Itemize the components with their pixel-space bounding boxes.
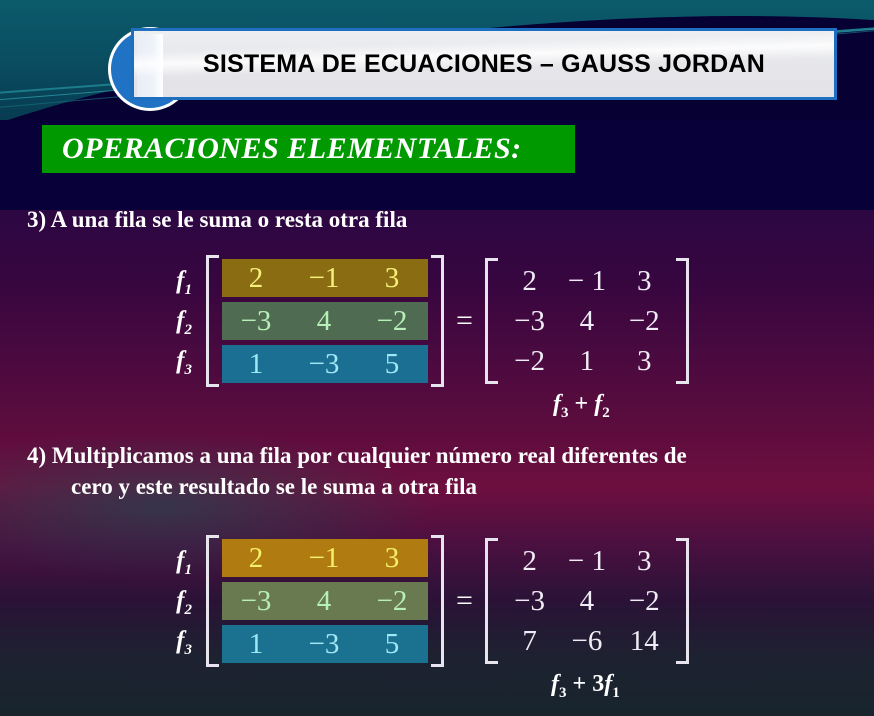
- slide-title-box: SISTEMA DE ECUACIONES – GAUSS JORDAN: [131, 28, 837, 100]
- matrix-row: 2 −1 3: [222, 259, 428, 297]
- matrix-row: −3 4 −2: [222, 302, 428, 340]
- matrix-row: −2 1 3: [501, 342, 673, 380]
- result-matrix-2: 2 − 1 3 −3 4 −2 7 −6 14: [485, 538, 689, 664]
- matrix-cell: −2: [358, 304, 426, 338]
- op1-operator: +: [575, 391, 589, 417]
- row-label-f1-letter: f: [176, 547, 184, 574]
- matrix-cell: 4: [558, 305, 615, 338]
- matrix-cell: 2: [501, 265, 558, 298]
- matrix-cell: 3: [616, 345, 673, 378]
- section-banner-label: OPERACIONES ELEMENTALES:: [42, 132, 522, 166]
- result-matrix-1: 2 − 1 3 −3 4 −2 −2 1 3: [485, 258, 689, 384]
- op2-target-index: 3: [559, 685, 567, 701]
- operation-caption-2: f3 + 3f1: [551, 671, 620, 702]
- matrix-row: −3 4 −2: [501, 582, 673, 620]
- bracket-left: [206, 535, 219, 667]
- equation-block-2: f1 f2 f3 2 −1 3 −3 4 −2 1 −3 5 =: [160, 535, 689, 667]
- row-label-f3-letter: f: [176, 347, 184, 374]
- matrix-cell: −2: [358, 584, 426, 618]
- matrix-cell: −2: [501, 345, 558, 378]
- row-label-f3-index: 3: [185, 642, 193, 658]
- row-label-f1-index: 1: [185, 282, 193, 298]
- row-label-f2: f2: [160, 301, 192, 341]
- matrix-cell: 1: [222, 627, 290, 661]
- row-label-f3-letter: f: [176, 627, 184, 654]
- bracket-right: [431, 535, 444, 667]
- matrix-cell: 2: [222, 541, 290, 575]
- matrix-row: 2 −1 3: [222, 539, 428, 577]
- source-matrix-2: 2 −1 3 −3 4 −2 1 −3 5: [206, 535, 444, 667]
- matrix-cell: 3: [358, 541, 426, 575]
- matrix-cell: 3: [358, 261, 426, 295]
- section-banner: OPERACIONES ELEMENTALES:: [42, 125, 575, 173]
- row-label-f1-index: 1: [185, 562, 193, 578]
- equation-block-1: f1 f2 f3 2 −1 3 −3 4 −2 1 −3 5 =: [160, 255, 689, 387]
- matrix-cell: 5: [358, 627, 426, 661]
- page-title: SISTEMA DE ECUACIONES – GAUSS JORDAN: [203, 50, 765, 79]
- row-label-f2-index: 2: [185, 322, 193, 338]
- op2-source-index: 1: [612, 685, 620, 701]
- row-label-f3: f3: [160, 341, 192, 381]
- matrix-cell: −2: [616, 305, 673, 338]
- bullet-item-4-line2: cero y este resultado se le suma a otra …: [27, 471, 857, 502]
- matrix-cell: 14: [616, 625, 673, 658]
- operation-caption-1: f3 + f2: [553, 391, 610, 422]
- matrix-row: 1 −3 5: [222, 345, 428, 383]
- row-label-f2: f2: [160, 581, 192, 621]
- row-label-f2-letter: f: [176, 307, 184, 334]
- matrix-cell: 4: [290, 584, 358, 618]
- matrix-cell: −1: [290, 261, 358, 295]
- matrix-cell: − 1: [558, 265, 615, 298]
- matrix-cell: 3: [616, 545, 673, 578]
- bracket-left: [485, 258, 498, 384]
- matrix-cell: − 1: [558, 545, 615, 578]
- matrix-cell: −3: [501, 305, 558, 338]
- matrix-cell: 2: [222, 261, 290, 295]
- matrix-cell: −3: [290, 347, 358, 381]
- matrix-row: 2 − 1 3: [501, 262, 673, 300]
- row-labels-2: f1 f2 f3: [160, 541, 192, 661]
- bullet-item-4-line1: 4) Multiplicamos a una fila por cualquie…: [27, 443, 687, 468]
- matrix-cell: 4: [558, 585, 615, 618]
- bullet-item-3: 3) A una fila se le suma o resta otra fi…: [27, 204, 727, 235]
- bracket-right: [676, 538, 689, 664]
- bullet-item-4: 4) Multiplicamos a una fila por cualquie…: [27, 440, 857, 502]
- op2-source: f: [604, 671, 612, 697]
- bracket-left: [206, 255, 219, 387]
- source-matrix-1: 2 −1 3 −3 4 −2 1 −3 5: [206, 255, 444, 387]
- row-label-f1-letter: f: [176, 267, 184, 294]
- matrix-cell: 1: [558, 345, 615, 378]
- row-label-f1: f1: [160, 261, 192, 301]
- op2-coefficient: 3: [592, 671, 604, 697]
- matrix-cell: −3: [222, 584, 290, 618]
- slide-canvas: SISTEMA DE ECUACIONES – GAUSS JORDAN OPE…: [0, 0, 874, 716]
- matrix-row: −3 4 −2: [501, 302, 673, 340]
- matrix-cell: 2: [501, 545, 558, 578]
- bracket-right: [676, 258, 689, 384]
- matrix-row: 2 − 1 3: [501, 542, 673, 580]
- matrix-cell: −3: [222, 304, 290, 338]
- matrix-cell: 3: [616, 265, 673, 298]
- matrix-cell: 5: [358, 347, 426, 381]
- matrix-cell: −3: [290, 627, 358, 661]
- row-label-f1: f1: [160, 541, 192, 581]
- op1-target-index: 3: [561, 405, 569, 421]
- equals-sign-1: =: [456, 304, 473, 338]
- op2-target: f: [551, 671, 559, 697]
- op1-target: f: [553, 391, 561, 417]
- bracket-left: [485, 538, 498, 664]
- equals-sign-2: =: [456, 584, 473, 618]
- matrix-row: 7 −6 14: [501, 622, 673, 660]
- matrix-row: −3 4 −2: [222, 582, 428, 620]
- row-labels-1: f1 f2 f3: [160, 261, 192, 381]
- matrix-row: 1 −3 5: [222, 625, 428, 663]
- matrix-cell: −2: [616, 585, 673, 618]
- bracket-right: [431, 255, 444, 387]
- matrix-cell: −6: [558, 625, 615, 658]
- row-label-f2-letter: f: [176, 587, 184, 614]
- matrix-cell: −3: [501, 585, 558, 618]
- op1-source-index: 2: [602, 405, 610, 421]
- matrix-cell: 7: [501, 625, 558, 658]
- op1-source: f: [594, 391, 602, 417]
- row-label-f3: f3: [160, 621, 192, 661]
- matrix-cell: 4: [290, 304, 358, 338]
- row-label-f3-index: 3: [185, 362, 193, 378]
- op2-operator: +: [573, 671, 587, 697]
- matrix-cell: 1: [222, 347, 290, 381]
- row-label-f2-index: 2: [185, 602, 193, 618]
- matrix-cell: −1: [290, 541, 358, 575]
